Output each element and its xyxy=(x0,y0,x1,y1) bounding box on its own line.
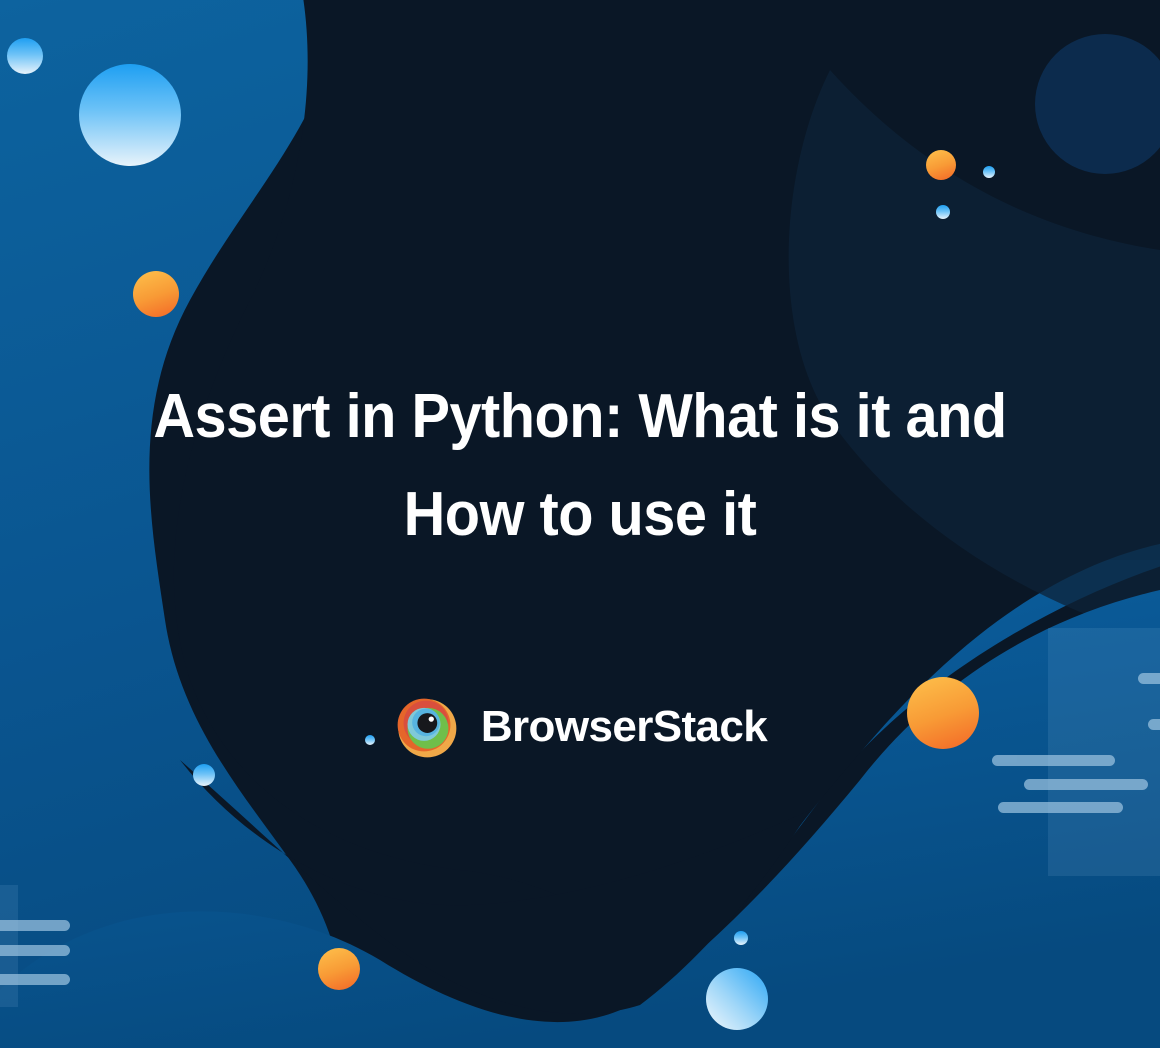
blue-circle-top-left-large xyxy=(79,64,181,166)
blue-dot-top-right-tiny xyxy=(983,166,995,178)
bar-right-main-3 xyxy=(998,802,1123,813)
orange-circle-bottom-left xyxy=(318,948,360,990)
bar-bottom-left-3 xyxy=(0,974,70,985)
blue-dot-bottom-center xyxy=(734,931,748,945)
orange-circle-left xyxy=(133,271,179,317)
orange-circle-right-large xyxy=(907,677,979,749)
panel-right xyxy=(1048,628,1160,876)
blue-circle-bottom-center xyxy=(706,968,768,1030)
bar-right-top-2 xyxy=(1148,719,1160,730)
orange-dot-top-right xyxy=(926,150,956,180)
bar-cluster-bottom-left xyxy=(0,920,70,985)
blue-dot-top-left-small xyxy=(7,38,43,74)
blue-dot-top-right-small xyxy=(936,205,950,219)
blue-dot-left-mid xyxy=(193,764,215,786)
bar-bottom-left-2 xyxy=(0,945,70,956)
social-card-canvas: Assert in Python: What is it and How to … xyxy=(0,0,1160,1048)
bar-right-main-2 xyxy=(1024,779,1148,790)
blue-dot-near-logo xyxy=(365,735,375,745)
bar-bottom-left-1 xyxy=(0,920,70,931)
decorative-background xyxy=(0,0,1160,1048)
bar-right-main-1 xyxy=(992,755,1115,766)
bar-right-top-1 xyxy=(1138,673,1160,684)
